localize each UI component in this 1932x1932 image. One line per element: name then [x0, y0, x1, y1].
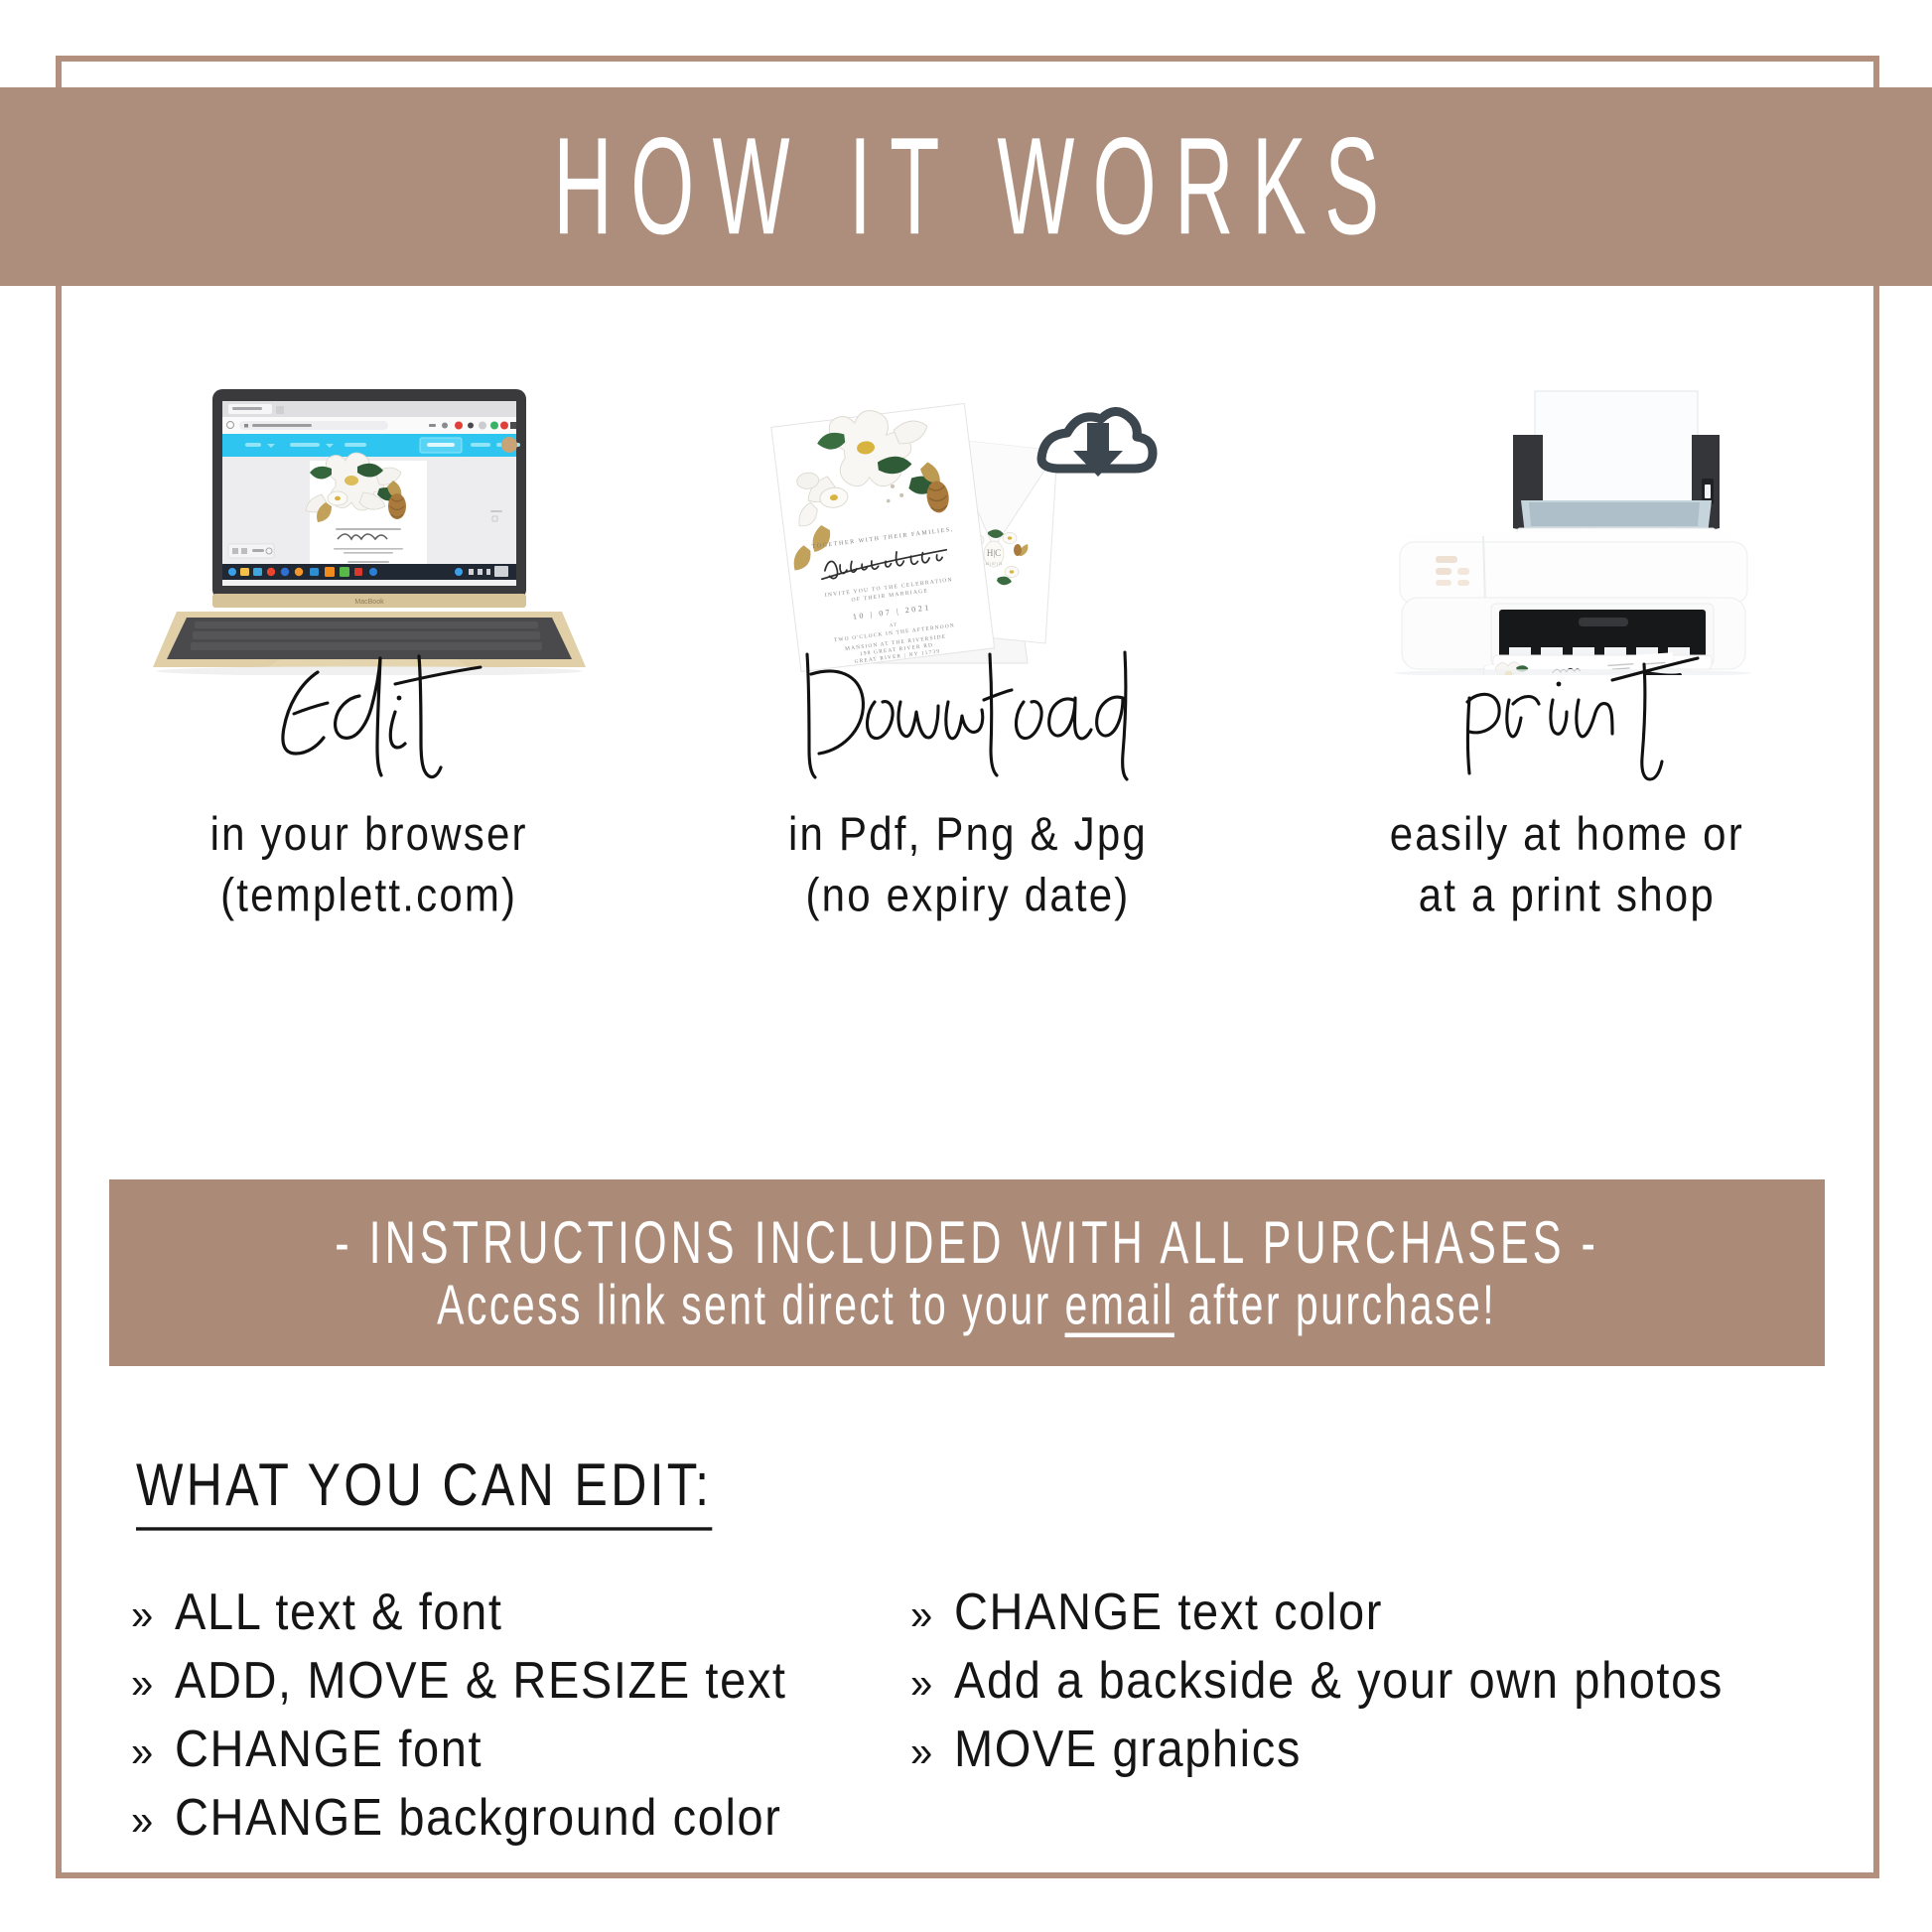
- instructions-banner: - INSTRUCTIONS INCLUDED WITH ALL PURCHAS…: [109, 1179, 1825, 1366]
- svg-text:10 | 07 | 21: 10 | 07 | 21: [985, 562, 1002, 566]
- step-download: H|C 10 | 07 | 21: [668, 377, 1267, 1072]
- step-script-print: [1268, 645, 1866, 804]
- printer-illustration: [1268, 377, 1866, 675]
- editable-features-lists: » ALL text & font » ADD, MOVE & RESIZE t…: [131, 1574, 1849, 1848]
- header-banner: HOW IT WORKS: [0, 87, 1932, 286]
- list-item-label: CHANGE background color: [175, 1779, 782, 1855]
- chevron-right-double-icon: »: [131, 1652, 175, 1717]
- step-caption-edit: in your browser (templett.com): [69, 804, 668, 925]
- svg-text:AT: AT: [890, 622, 898, 628]
- invitation-and-envelope-icon: H|C 10 | 07 | 21: [759, 377, 1176, 675]
- list-item: » CHANGE font: [131, 1711, 910, 1786]
- instructions-headline: - INSTRUCTIONS INCLUDED WITH ALL PURCHAS…: [335, 1208, 1599, 1277]
- caption-line: at a print shop: [1268, 865, 1866, 925]
- handwritten-download-word: [779, 650, 1157, 799]
- list-item-label: CHANGE font: [175, 1711, 483, 1786]
- list-item: » Add a backside & your own photos: [910, 1642, 1849, 1718]
- caption-line: in your browser: [69, 804, 668, 865]
- handwritten-edit-word: [220, 650, 518, 799]
- chevron-right-double-icon: »: [910, 1721, 954, 1785]
- list-item-label: MOVE graphics: [954, 1711, 1302, 1786]
- edit-section-heading: WHAT YOU CAN EDIT:: [136, 1450, 712, 1531]
- instructions-subline: Access link sent direct to your email af…: [438, 1272, 1497, 1337]
- chevron-right-double-icon: »: [910, 1584, 954, 1648]
- list-item: » ALL text & font: [131, 1574, 910, 1649]
- editable-features-column-left: » ALL text & font » ADD, MOVE & RESIZE t…: [131, 1574, 910, 1848]
- list-item: » CHANGE background color: [131, 1779, 910, 1855]
- list-item: » MOVE graphics: [910, 1711, 1849, 1786]
- step-script-edit: [69, 645, 668, 804]
- svg-text:H|C: H|C: [987, 548, 1001, 558]
- chevron-right-double-icon: »: [910, 1652, 954, 1717]
- printer-icon: [1358, 377, 1775, 675]
- how-it-works-infographic: HOW IT WORKS: [0, 0, 1932, 1932]
- instructions-subline-post: after purchase!: [1174, 1273, 1496, 1336]
- step-print: easily at home or at a print shop: [1268, 377, 1866, 1072]
- step-caption-print: easily at home or at a print shop: [1268, 804, 1866, 925]
- caption-line: easily at home or: [1268, 804, 1866, 865]
- cloud-download-icon: [1041, 411, 1153, 477]
- svg-text:MacBook: MacBook: [354, 599, 384, 606]
- step-caption-download: in Pdf, Png & Jpg (no expiry date): [668, 804, 1267, 925]
- list-item-label: ADD, MOVE & RESIZE text: [175, 1642, 787, 1718]
- steps-row: MacBook: [69, 377, 1866, 1072]
- handwritten-print-word: [1418, 650, 1716, 799]
- list-item-label: Add a backside & your own photos: [954, 1642, 1724, 1718]
- instructions-subline-link[interactable]: email: [1065, 1273, 1174, 1336]
- step-script-download: [668, 645, 1267, 804]
- list-item: » ADD, MOVE & RESIZE text: [131, 1642, 910, 1718]
- chevron-right-double-icon: »: [131, 1721, 175, 1785]
- list-item: » CHANGE text color: [910, 1574, 1849, 1649]
- laptop-illustration: MacBook: [69, 377, 668, 675]
- caption-line: (no expiry date): [668, 865, 1267, 925]
- step-edit: MacBook: [69, 377, 668, 1072]
- laptop-icon: MacBook: [141, 377, 598, 675]
- editable-features-column-right: » CHANGE text color » Add a backside & y…: [910, 1574, 1849, 1848]
- list-item-label: CHANGE text color: [954, 1574, 1383, 1649]
- chevron-right-double-icon: »: [131, 1584, 175, 1648]
- page-title: HOW IT WORKS: [535, 117, 1397, 255]
- chevron-right-double-icon: »: [131, 1789, 175, 1854]
- caption-line: in Pdf, Png & Jpg: [668, 804, 1267, 865]
- list-item-label: ALL text & font: [175, 1574, 503, 1649]
- invitation-cards-illustration: H|C 10 | 07 | 21: [668, 377, 1267, 675]
- instructions-subline-pre: Access link sent direct to your: [438, 1273, 1065, 1336]
- caption-line: (templett.com): [69, 865, 668, 925]
